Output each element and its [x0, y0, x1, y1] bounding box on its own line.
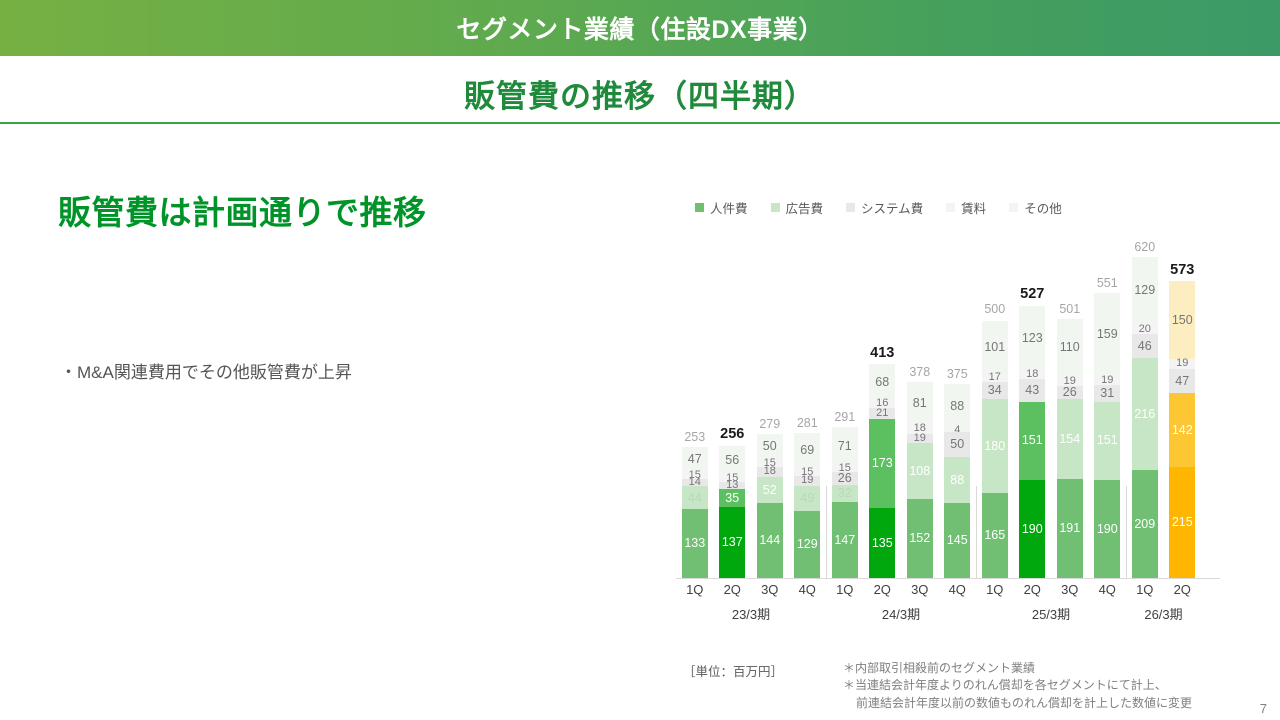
bar-segment: 19	[907, 434, 933, 444]
bar-segment: 31	[1094, 385, 1120, 401]
bar-segment: 133	[682, 509, 708, 578]
bar-slot: 28169151949129	[789, 186, 827, 578]
bar-total-label: 500	[984, 302, 1005, 316]
bar-slot: 6201292046216209	[1126, 186, 1164, 578]
bar-segment: 110	[1057, 319, 1083, 376]
x-tick-label: 4Q	[1089, 582, 1127, 602]
bar-total-label: 281	[797, 416, 818, 430]
x-tick-label: 1Q	[976, 582, 1014, 602]
bar-segment: 26	[832, 472, 858, 485]
stacked-bar[interactable]: 29171152632147	[832, 427, 858, 578]
bar-total-label: 375	[947, 367, 968, 381]
bar-slot: 378811819108152	[901, 186, 939, 578]
bar-segment: 32	[832, 485, 858, 502]
stacked-bar[interactable]: 378811819108152	[907, 382, 933, 578]
x-axis-tick-labels: 1Q2Q3Q4Q1Q2Q3Q4Q1Q2Q3Q4Q1Q2Q	[676, 582, 1220, 602]
title-divider	[0, 122, 1280, 124]
bar-segment: 159	[1094, 293, 1120, 375]
bar-segment: 46	[1132, 334, 1158, 358]
bar-segment: 144	[757, 503, 783, 578]
stacked-bar[interactable]: 6201292046216209	[1132, 257, 1158, 578]
stacked-bar[interactable]: 27950151852144	[757, 434, 783, 578]
stacked-bar[interactable]: 28169151949129	[794, 433, 820, 578]
bar-segment: 190	[1019, 480, 1045, 578]
x-tick-label: 3Q	[751, 582, 789, 602]
stacked-bar[interactable]: 5011101926154191	[1057, 319, 1083, 578]
bar-segment: 88	[944, 384, 970, 430]
bar-segment: 34	[982, 382, 1008, 400]
bar-segment: 21	[869, 408, 895, 419]
bar-total-label: 279	[759, 417, 780, 431]
bar-segment: 209	[1132, 470, 1158, 578]
stacked-bar[interactable]: 25656151335137	[719, 446, 745, 578]
bar-slot: 25656151335137	[714, 186, 752, 578]
bar-segment: 165	[982, 493, 1008, 578]
bar-segment: 20	[1132, 324, 1158, 334]
chart-plot-area: 2534715144413325656151335137279501518521…	[676, 186, 1220, 578]
bar-segment: 180	[982, 399, 1008, 492]
bar-segment: 17	[982, 373, 1008, 382]
x-tick-label: 4Q	[939, 582, 977, 602]
x-tick-label: 3Q	[901, 582, 939, 602]
bar-segment: 50	[757, 434, 783, 460]
group-label: 23/3期	[676, 604, 826, 623]
bar-slot: 27950151852144	[751, 186, 789, 578]
group-divider	[976, 486, 977, 578]
banner-title: セグメント業績（住設DX事業）	[456, 10, 823, 46]
bar-segment: 47	[1169, 369, 1195, 393]
footnote-3: 前連結会計年度以前の数値ものれん償却を計上した数値に変更	[843, 695, 1192, 712]
lead-statement: 販管費は計画通りで推移	[58, 186, 618, 234]
bar-segment: 18	[757, 467, 783, 476]
bar-segment: 191	[1057, 479, 1083, 578]
bar-segment: 18	[1019, 370, 1045, 379]
bar-total-label: 256	[720, 426, 744, 442]
bar-segment: 108	[907, 443, 933, 499]
bar-slot: 5011101926154191	[1051, 186, 1089, 578]
bar-container: 2534715144413325656151335137279501518521…	[676, 186, 1220, 578]
bar-segment: 129	[1132, 257, 1158, 324]
x-tick-label: 2Q	[864, 582, 902, 602]
bar-segment: 152	[907, 499, 933, 578]
stacked-bar[interactable]: 5271231843151190	[1019, 306, 1045, 578]
bar-total-label: 551	[1097, 276, 1118, 290]
bar-segment: 147	[832, 502, 858, 578]
group-label: 26/3期	[1126, 604, 1201, 623]
bar-segment: 151	[1019, 402, 1045, 480]
x-tick-label: 4Q	[789, 582, 827, 602]
x-tick-label: 2Q	[1164, 582, 1202, 602]
x-tick-label: 1Q	[1126, 582, 1164, 602]
bar-segment: 19	[1169, 359, 1195, 369]
stacked-bar[interactable]: 413681621173135	[869, 364, 895, 578]
bar-slot: 5271231843151190	[1014, 186, 1052, 578]
bar-segment: 19	[794, 476, 820, 486]
bar-total-label: 413	[870, 345, 894, 361]
bar-segment: 215	[1169, 467, 1195, 578]
bar-slot: 5001011734180165	[976, 186, 1014, 578]
bar-segment: 71	[832, 427, 858, 464]
bar-segment: 135	[869, 508, 895, 578]
bar-segment: 26	[1057, 386, 1083, 399]
group-label: 24/3期	[826, 604, 976, 623]
stacked-bar[interactable]: 5511591931151190	[1094, 293, 1120, 578]
bar-segment: 150	[1169, 281, 1195, 359]
x-tick-label: 2Q	[1014, 582, 1052, 602]
bar-slot: 413681621173135	[864, 186, 902, 578]
group-label: 25/3期	[976, 604, 1126, 623]
footnote-2: ＊当連結会計年度よりのれん償却を各セグメントにて計上、	[843, 677, 1192, 694]
x-tick-label: 1Q	[676, 582, 714, 602]
bar-segment: 151	[1094, 402, 1120, 480]
x-tick-label: 3Q	[1051, 582, 1089, 602]
group-divider	[1126, 486, 1127, 578]
bar-segment: 56	[719, 446, 745, 475]
bar-segment: 190	[1094, 480, 1120, 578]
bar-segment: 81	[907, 382, 933, 424]
bar-total-label: 378	[909, 365, 930, 379]
bar-segment: 142	[1169, 393, 1195, 467]
bar-segment: 69	[794, 433, 820, 469]
page-title: 販管費の推移（四半期）	[0, 68, 1280, 118]
bullet-point: ・M&A関連費用でその他販管費が上昇	[60, 358, 640, 383]
bar-slot: 5731501947142215	[1164, 186, 1202, 578]
bar-segment: 49	[794, 486, 820, 511]
bar-slot: 3758845088145	[939, 186, 977, 578]
stacked-bar[interactable]: 5731501947142215	[1169, 281, 1195, 578]
bar-segment: 15	[832, 464, 858, 472]
bar-segment: 50	[944, 432, 970, 458]
bar-segment: 13	[719, 482, 745, 489]
bar-segment: 44	[682, 486, 708, 509]
bar-segment: 101	[982, 321, 1008, 373]
bar-segment: 19	[1094, 376, 1120, 386]
bar-segment: 47	[682, 447, 708, 471]
bar-segment: 19	[1057, 376, 1083, 386]
bar-slot: 29171152632147	[826, 186, 864, 578]
bar-slot: 25347151444133	[676, 186, 714, 578]
bar-segment: 68	[869, 364, 895, 399]
bar-total-label: 291	[834, 410, 855, 424]
footnote-1: ＊内部取引相殺前のセグメント業績	[843, 660, 1192, 677]
footnotes: ＊内部取引相殺前のセグメント業績 ＊当連結会計年度よりのれん償却を各セグメントに…	[843, 660, 1192, 712]
bar-segment: 216	[1132, 358, 1158, 470]
bar-segment: 14	[682, 479, 708, 486]
bar-segment: 129	[794, 511, 820, 578]
header-banner: セグメント業績（住設DX事業）	[0, 0, 1280, 56]
x-tick-label: 2Q	[714, 582, 752, 602]
bar-total-label: 620	[1134, 240, 1155, 254]
bar-segment: 88	[944, 457, 970, 503]
bar-segment: 123	[1019, 306, 1045, 370]
x-tick-label: 1Q	[826, 582, 864, 602]
bar-total-label: 253	[684, 430, 705, 444]
bar-segment: 154	[1057, 399, 1083, 479]
stacked-bar[interactable]: 3758845088145	[944, 384, 970, 578]
x-axis-group-labels: 23/3期24/3期25/3期26/3期	[676, 604, 1220, 624]
page-number: 7	[1260, 701, 1267, 716]
bar-segment: 43	[1019, 379, 1045, 401]
bar-slot: 5511591931151190	[1089, 186, 1127, 578]
stacked-bar[interactable]: 5001011734180165	[982, 321, 1008, 578]
group-divider	[826, 486, 827, 578]
bar-segment: 52	[757, 477, 783, 504]
unit-label: ［単位：百万円］	[683, 661, 783, 680]
bar-total-label: 527	[1020, 286, 1044, 302]
bar-segment: 145	[944, 503, 970, 578]
x-axis-line	[676, 578, 1220, 579]
stacked-bar[interactable]: 25347151444133	[682, 447, 708, 578]
bar-segment: 35	[719, 489, 745, 507]
bar-total-label: 573	[1170, 262, 1194, 278]
bar-segment: 173	[869, 419, 895, 509]
bar-segment: 137	[719, 507, 745, 578]
sga-expense-chart: 人件費広告費システム費賃料その他 25347151444133256561513…	[660, 186, 1220, 586]
bar-total-label: 501	[1059, 302, 1080, 316]
